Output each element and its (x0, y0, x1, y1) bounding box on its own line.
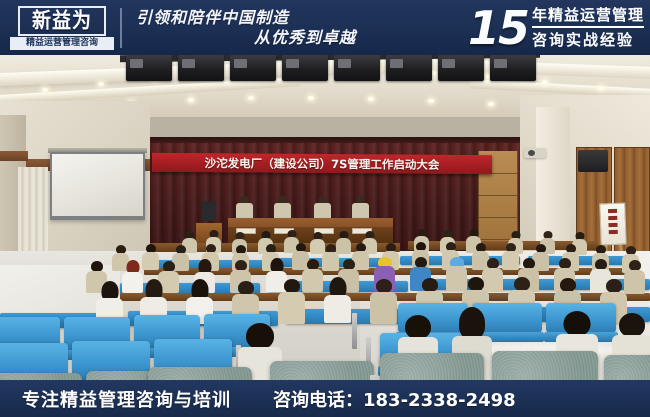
ceiling-downlight (98, 82, 104, 86)
years-text: 年精益运营管理 咨询实战经验 (532, 5, 644, 50)
stage-light (334, 55, 380, 81)
scene-element (286, 59, 299, 68)
attendee (142, 244, 159, 270)
years-number: 15 (468, 8, 528, 48)
ceiling-downlight (428, 99, 434, 103)
scene-element (608, 209, 617, 213)
header-divider (120, 8, 122, 48)
ceiling-downlight (368, 97, 374, 101)
ceiling-downlight (542, 80, 548, 84)
attendee (624, 260, 645, 294)
easel-poster (599, 203, 626, 246)
scene-element (459, 307, 485, 339)
foreground-chair (148, 367, 252, 380)
scene-element (609, 230, 618, 234)
stage-light (490, 55, 536, 81)
attendee (370, 279, 397, 324)
scene-element (246, 323, 274, 349)
scene-element (278, 292, 305, 324)
event-banner: 沙沱发电厂（建设公司）7S管理工作启动大会 (152, 153, 492, 174)
projection-screen-frame (50, 152, 145, 220)
scene-element (405, 315, 431, 339)
scene-element (468, 277, 484, 291)
company-logo[interactable]: 新益为 精益运营管理咨询 (6, 4, 116, 51)
scene-element (494, 59, 507, 68)
logo-box: 新益为 (18, 6, 106, 36)
scene-element (560, 278, 576, 292)
stage-light (282, 55, 328, 81)
projection-screen (52, 154, 143, 216)
attendee (302, 259, 323, 292)
panel-member (314, 196, 331, 220)
scene-element (608, 216, 617, 220)
scene-element (390, 59, 403, 68)
scene-element (370, 292, 397, 324)
footer-tagline: 专注精益管理咨询与培训 (22, 386, 231, 412)
scene-element (238, 281, 254, 295)
panel-member (274, 196, 291, 220)
scene-element (479, 217, 517, 218)
scene-element (564, 311, 591, 336)
scene-element (130, 59, 143, 68)
ceiling-downlight (598, 86, 604, 90)
scene-element (322, 252, 339, 271)
scene-element (338, 59, 351, 68)
scene-element (502, 251, 519, 270)
scene-element (619, 313, 645, 337)
ceiling-downlight (42, 88, 48, 92)
event-banner-text: 沙沱发电厂（建设公司）7S管理工作启动大会 (205, 155, 440, 173)
header-slogan: 引领和陪伴中国制造 从优秀到卓越 (132, 8, 382, 48)
slogan-line-1: 引领和陪伴中国制造 (132, 8, 382, 28)
projector (524, 148, 546, 158)
banner-image-page: 新益为 精益运营管理咨询 引领和陪伴中国制造 从优秀到卓越 15 年精益运营管理… (0, 0, 650, 417)
ceiling-downlight (488, 102, 494, 106)
stage-light (230, 55, 276, 81)
stage-side-speaker (202, 201, 216, 221)
scene-element (324, 295, 351, 323)
scene-element (514, 277, 530, 291)
attendee (502, 243, 519, 270)
attendee (322, 244, 339, 271)
header-years-block: 15 年精益运营管理 咨询实战经验 (382, 5, 650, 50)
years-line-1: 年精益运营管理 (532, 5, 644, 28)
scene-element (606, 279, 622, 293)
ceiling-downlight (248, 96, 254, 100)
foreground-chair (604, 355, 650, 380)
scene-element (442, 59, 455, 68)
scene-element (422, 278, 438, 292)
bench-leg (352, 313, 357, 349)
wall-left-wood-trim-2 (0, 151, 28, 161)
stage-light (178, 55, 224, 81)
scene-element (302, 269, 323, 292)
ceiling-downlight (188, 98, 194, 102)
ceiling-downlight (308, 96, 314, 100)
attendee-female (324, 277, 351, 323)
scene-element (479, 195, 517, 196)
attendee (278, 279, 305, 324)
stage-light (126, 55, 172, 81)
scene-element (142, 252, 159, 270)
scene-element (376, 279, 392, 293)
panel-member (236, 196, 253, 220)
conference-photo: 沙沱发电厂（建设公司）7S管理工作启动大会 (0, 55, 650, 380)
scene-element (284, 279, 300, 293)
stage-light (386, 55, 432, 81)
foreground-chair (0, 373, 82, 380)
foreground-chair (380, 353, 484, 380)
foreground-chair (270, 361, 374, 380)
scene-element (608, 223, 617, 227)
logo-main-text: 新益为 (32, 10, 92, 31)
stage-light (438, 55, 484, 81)
footer-phone: 咨询电话：183-2338-2498 (273, 386, 516, 412)
panel-member (352, 196, 369, 220)
scene-element (182, 59, 195, 68)
scene-element (234, 59, 247, 68)
footer-bar: 专注精益管理咨询与培训 咨询电话：183-2338-2498 (0, 380, 650, 417)
scene-element (624, 270, 645, 294)
header-bar: 新益为 精益运营管理咨询 引领和陪伴中国制造 从优秀到卓越 15 年精益运营管理… (0, 0, 650, 55)
loudspeaker (578, 150, 608, 172)
years-line-2: 咨询实战经验 (532, 28, 644, 50)
foreground-chair (492, 351, 598, 380)
logo-sub-text: 精益运营管理咨询 (10, 37, 114, 50)
slogan-line-2: 从优秀到卓越 (132, 28, 382, 48)
